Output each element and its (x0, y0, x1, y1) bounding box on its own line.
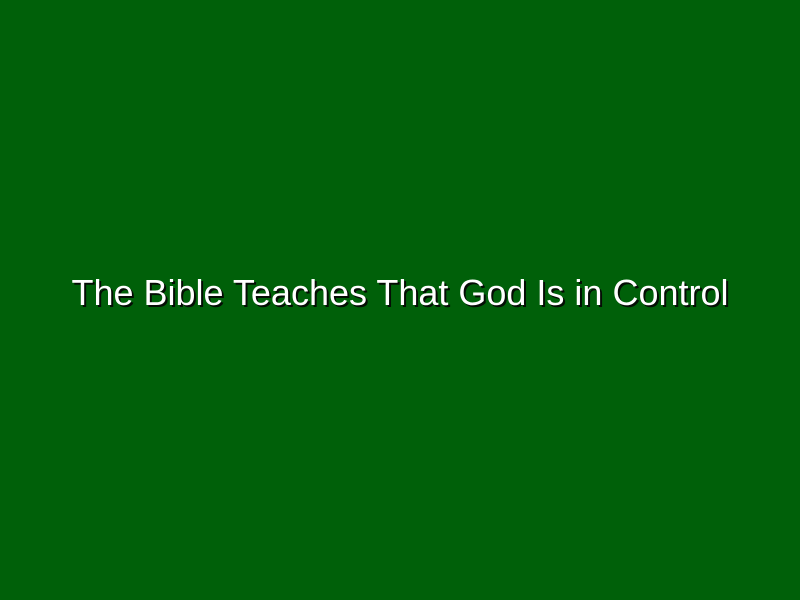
banner-title: The Bible Teaches That God Is in Control (71, 271, 728, 314)
banner-canvas: The Bible Teaches That God Is in Control (0, 0, 800, 600)
